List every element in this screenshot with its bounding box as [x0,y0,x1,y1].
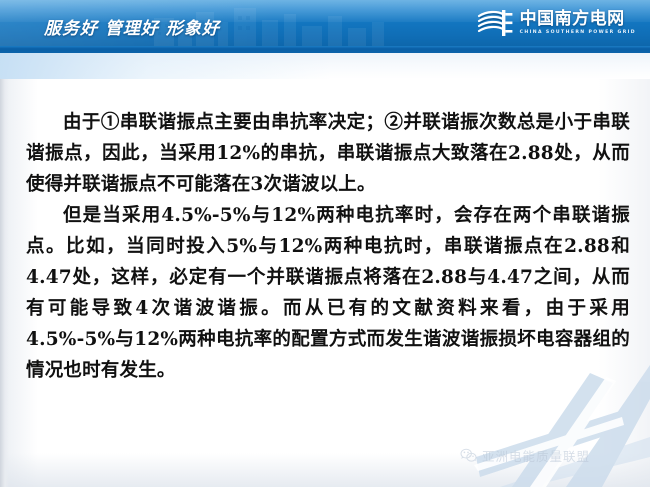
logo-name-en: CHINA SOUTHERN POWER GRID [520,31,636,36]
body-paragraph-2: 但是当采用4.5%-5%与12%两种电抗率时，会存在两个串联谐振点。比如，当同时… [26,200,630,386]
banner-fade-strip [0,53,650,79]
slide-body: 由于①串联谐振点主要由串抗率决定；②并联谐振次数总是小于串联谐振点，因此，当采用… [26,107,630,386]
slide-canvas: 服务好 管理好 形象好 中国 [0,0,650,487]
logo-name-cn: 中国南方电网 [520,11,636,28]
logo-text-block: 中国南方电网 CHINA SOUTHERN POWER GRID [520,11,636,36]
wechat-icon [460,448,477,463]
body-paragraph-1: 由于①串联谐振点主要由串抗率决定；②并联谐振次数总是小于串联谐振点，因此，当采用… [26,107,630,200]
watermark-label: 亚洲电能质量联盟 [482,446,590,465]
power-grid-logo-icon [477,8,513,38]
company-logo: 中国南方电网 CHINA SOUTHERN POWER GRID [477,8,636,38]
watermark: 亚洲电能质量联盟 [460,446,590,465]
header-banner: 服务好 管理好 形象好 中国 [0,0,650,53]
banner-underline-strip [0,46,650,53]
left-edge-shading [0,60,9,487]
banner-slogan: 服务好 管理好 形象好 [44,14,220,39]
